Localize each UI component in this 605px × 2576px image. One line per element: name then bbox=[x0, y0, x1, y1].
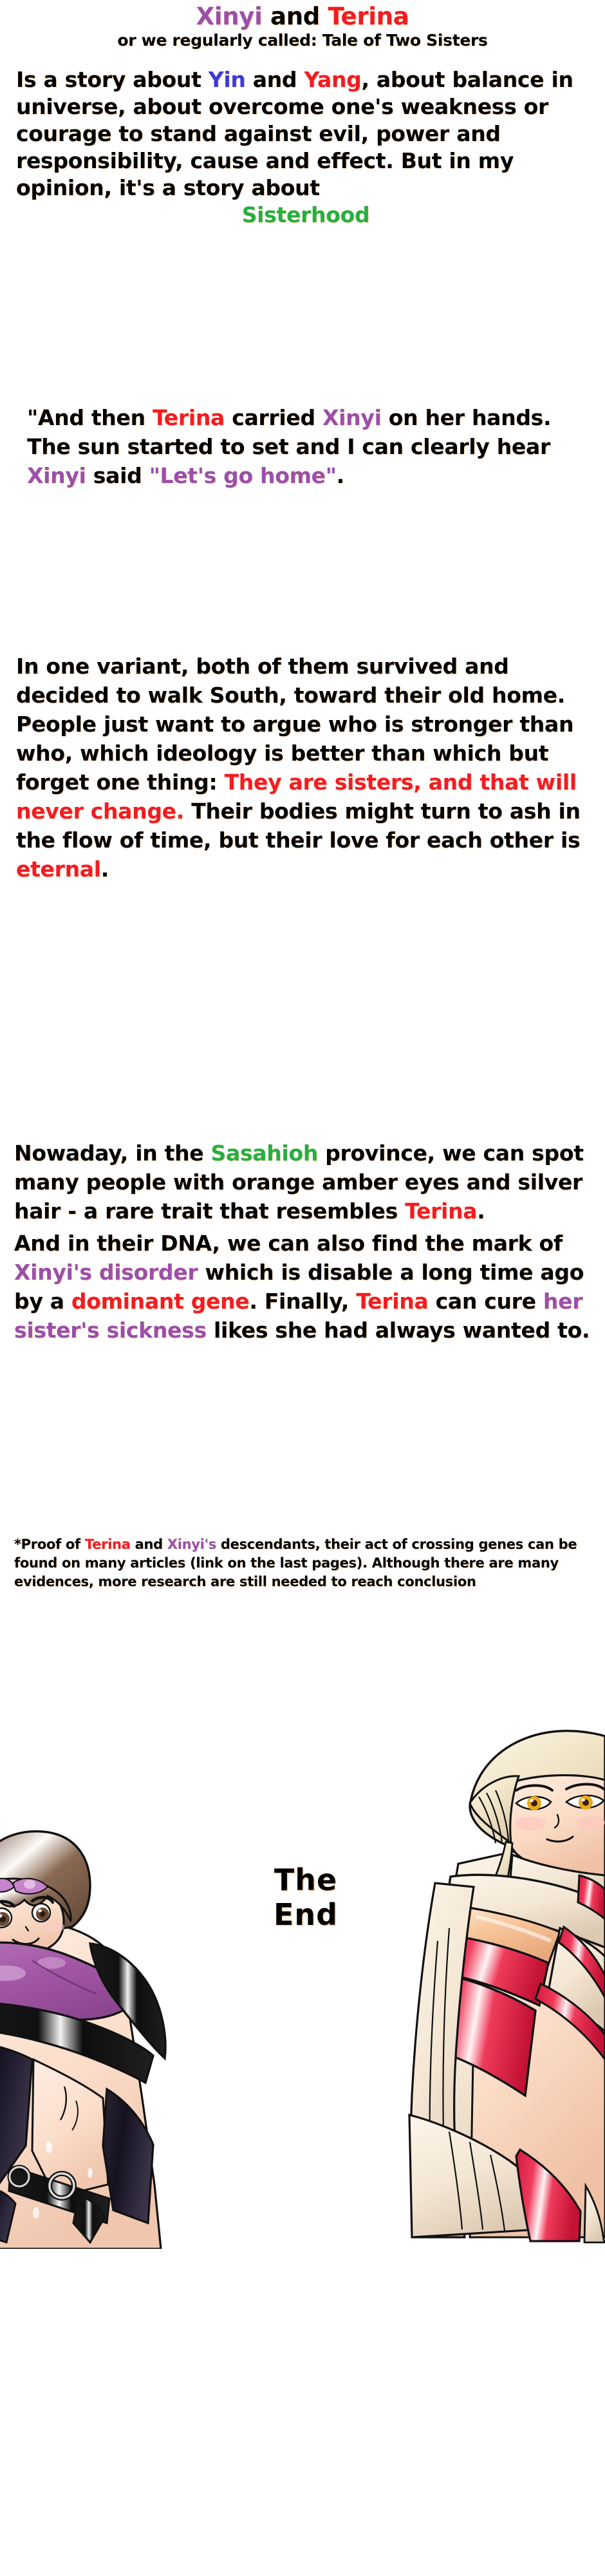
nowaday-text-1: Nowaday, in the bbox=[14, 1141, 211, 1166]
intro-sisterhood: Sisterhood bbox=[16, 202, 595, 229]
quote-xinyi-2: Xinyi bbox=[27, 463, 86, 488]
dna-text-1: And in their DNA, we can also find the m… bbox=[14, 1231, 563, 1256]
nowaday-terina: Terina bbox=[405, 1198, 477, 1224]
the-end-line-1: The bbox=[245, 1862, 367, 1897]
intro-paragraph: Is a story about Yin and Yang, about bal… bbox=[16, 66, 595, 229]
footnote: *Proof of Terina and Xinyi's descendants… bbox=[14, 1535, 597, 1591]
dna-text-5: likes she had always wanted to. bbox=[207, 1318, 590, 1343]
the-end-line-2: End bbox=[245, 1897, 367, 1932]
dna-text-3: . Finally, bbox=[249, 1289, 356, 1314]
quote-text-1: "And then bbox=[27, 405, 153, 430]
footnote-text-1: *Proof of bbox=[14, 1537, 85, 1552]
quote-text-2: carried bbox=[225, 405, 322, 430]
quote-text-5: . bbox=[337, 463, 344, 488]
quote-xinyi: Xinyi bbox=[322, 405, 382, 430]
footnote-xinyi: Xinyi's bbox=[167, 1537, 216, 1552]
intro-yin: Yin bbox=[209, 67, 246, 92]
nowaday-paragraph: Nowaday, in the Sasahioh province, we ca… bbox=[14, 1139, 597, 1345]
title-and: and bbox=[262, 3, 328, 30]
page-subtitle: or we regularly called: Tale of Two Sist… bbox=[0, 32, 605, 50]
title-xinyi: Xinyi bbox=[196, 3, 263, 30]
dna-xinyis-disorder: Xinyi's disorder bbox=[14, 1260, 198, 1285]
footnote-terina: Terina bbox=[85, 1537, 131, 1552]
quote-lets-go-home: "Let's go home" bbox=[149, 463, 337, 488]
page-title: Xinyi and Terina bbox=[0, 4, 605, 30]
xinyi-character-illustration bbox=[0, 1734, 187, 2249]
dna-text-4: can cure bbox=[428, 1289, 543, 1314]
nowaday-sasahioh: Sasahioh bbox=[211, 1141, 319, 1166]
variant-text-3: . bbox=[101, 857, 109, 882]
the-end-text: The End bbox=[245, 1862, 367, 1932]
comic-epilogue-page: Xinyi and Terina or we regularly called:… bbox=[0, 0, 605, 2576]
dna-terina: Terina bbox=[356, 1289, 428, 1314]
intro-text-1: Is a story about bbox=[16, 67, 209, 92]
title-terina: Terina bbox=[328, 3, 409, 30]
quote-terina: Terina bbox=[153, 405, 225, 430]
intro-text-2: and bbox=[246, 67, 304, 92]
variant-paragraph: In one variant, both of them survived an… bbox=[16, 652, 595, 884]
nowaday-text-3: . bbox=[477, 1198, 485, 1224]
variant-highlight-eternal: eternal bbox=[16, 857, 101, 882]
dna-paragraph: And in their DNA, we can also find the m… bbox=[14, 1229, 597, 1345]
terina-character-illustration bbox=[373, 1671, 605, 2244]
footnote-text-2: and bbox=[131, 1537, 167, 1552]
dna-dominant-gene: dominant gene bbox=[71, 1289, 250, 1314]
quote-paragraph: "And then Terina carried Xinyi on her ha… bbox=[27, 403, 593, 490]
quote-text-4: said bbox=[86, 463, 149, 488]
intro-yang: Yang bbox=[304, 67, 361, 92]
